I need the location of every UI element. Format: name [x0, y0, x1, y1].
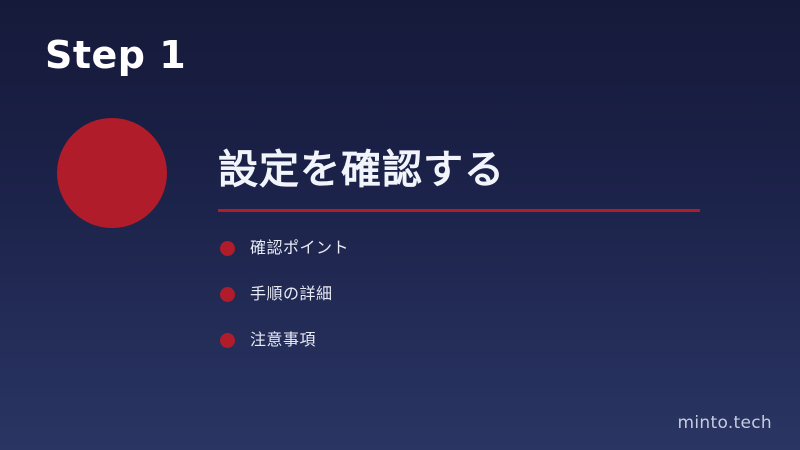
step-circle-shape — [57, 118, 167, 228]
slide-title: 設定を確認する — [218, 144, 758, 196]
list-item: 手順の詳細 — [220, 284, 349, 304]
title-block: 設定を確認する — [218, 144, 758, 212]
step-badge — [57, 118, 167, 228]
list-item: 注意事項 — [220, 330, 349, 350]
step-badge-label: Step 1 — [0, 28, 197, 82]
bullet-item-label: 注意事項 — [250, 330, 316, 350]
bullet-item-label: 確認ポイント — [250, 238, 349, 258]
bullet-list: 確認ポイント 手順の詳細 注意事項 — [220, 238, 349, 350]
bullet-item-label: 手順の詳細 — [250, 284, 333, 304]
title-divider — [218, 209, 700, 212]
bullet-dot-icon — [220, 287, 235, 302]
footer-brand: minto.tech — [678, 413, 772, 433]
list-item: 確認ポイント — [220, 238, 349, 258]
presentation-slide: Step 1 設定を確認する 確認ポイント 手順の詳細 注意事項 minto.t… — [0, 0, 800, 450]
bullet-dot-icon — [220, 333, 235, 348]
bullet-dot-icon — [220, 241, 235, 256]
